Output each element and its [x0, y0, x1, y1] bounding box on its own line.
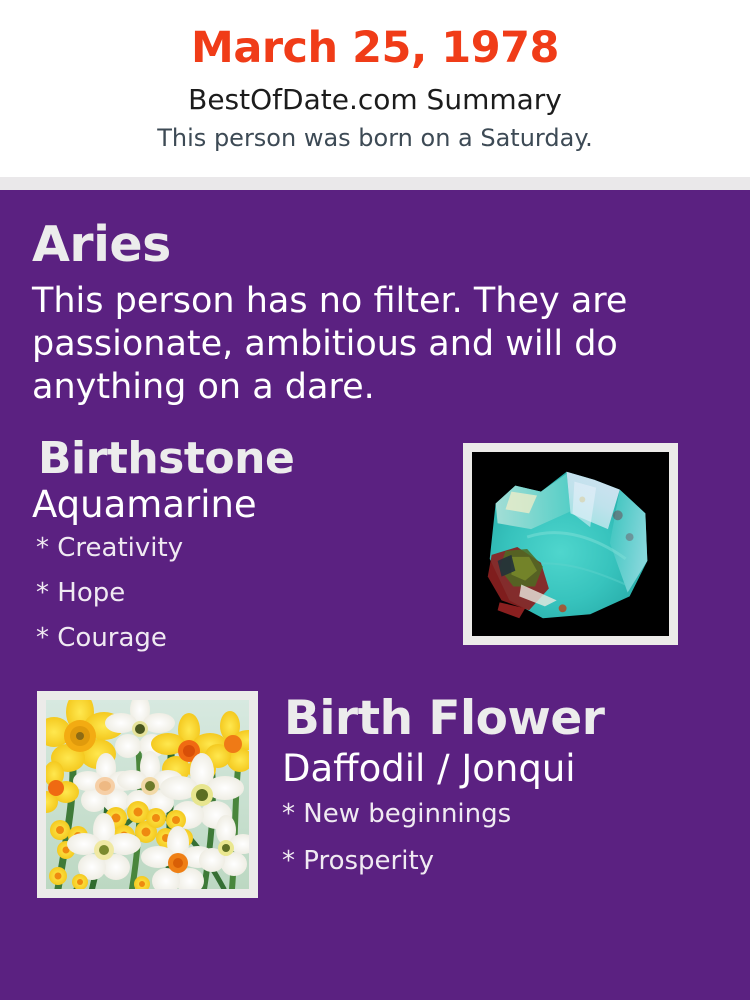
birthstone-trait: * Hope	[32, 571, 482, 616]
birthstone-image-frame	[463, 443, 678, 645]
site-summary-label: BestOfDate.com Summary	[0, 80, 750, 120]
birth-flower-trait: * New beginnings	[278, 791, 728, 838]
birthstone-section: Birthstone Aquamarine * Creativity * Hop…	[0, 433, 750, 661]
summary-panel: Aries This person has no filter. They ar…	[0, 190, 750, 1000]
header-divider	[0, 177, 750, 190]
birthstone-trait: * Courage	[32, 616, 482, 661]
aquamarine-crystal-photo	[472, 452, 669, 636]
zodiac-sign-title: Aries	[32, 216, 720, 274]
birth-flower-section: Birth Flower Daffodil / Jonqui * New beg…	[0, 691, 750, 906]
birthstone-trait: * Creativity	[32, 526, 482, 571]
birth-flower-trait: * Prosperity	[278, 838, 728, 885]
daffodil-field-illustration	[46, 700, 249, 889]
zodiac-description: This person has no filter. They are pass…	[32, 280, 657, 409]
page-title-date: March 25, 1978	[0, 22, 750, 74]
birth-flower-image-frame	[37, 691, 258, 898]
birth-flower-title: Birth Flower	[278, 691, 728, 747]
aquamarine-crystal-illustration	[472, 452, 669, 636]
daffodil-field-photo	[46, 700, 249, 889]
born-day-note: This person was born on a Saturday.	[0, 121, 750, 155]
birthstone-text-block: Birthstone Aquamarine * Creativity * Hop…	[0, 433, 482, 661]
birth-flower-text-block: Birth Flower Daffodil / Jonqui * New beg…	[278, 691, 728, 885]
page-header: March 25, 1978 BestOfDate.com Summary Th…	[0, 0, 750, 177]
birthstone-title: Birthstone	[32, 433, 482, 485]
birth-flower-name: Daffodil / Jonqui	[278, 747, 728, 791]
birthstone-name: Aquamarine	[32, 484, 482, 526]
zodiac-section: Aries This person has no filter. They ar…	[0, 190, 750, 409]
